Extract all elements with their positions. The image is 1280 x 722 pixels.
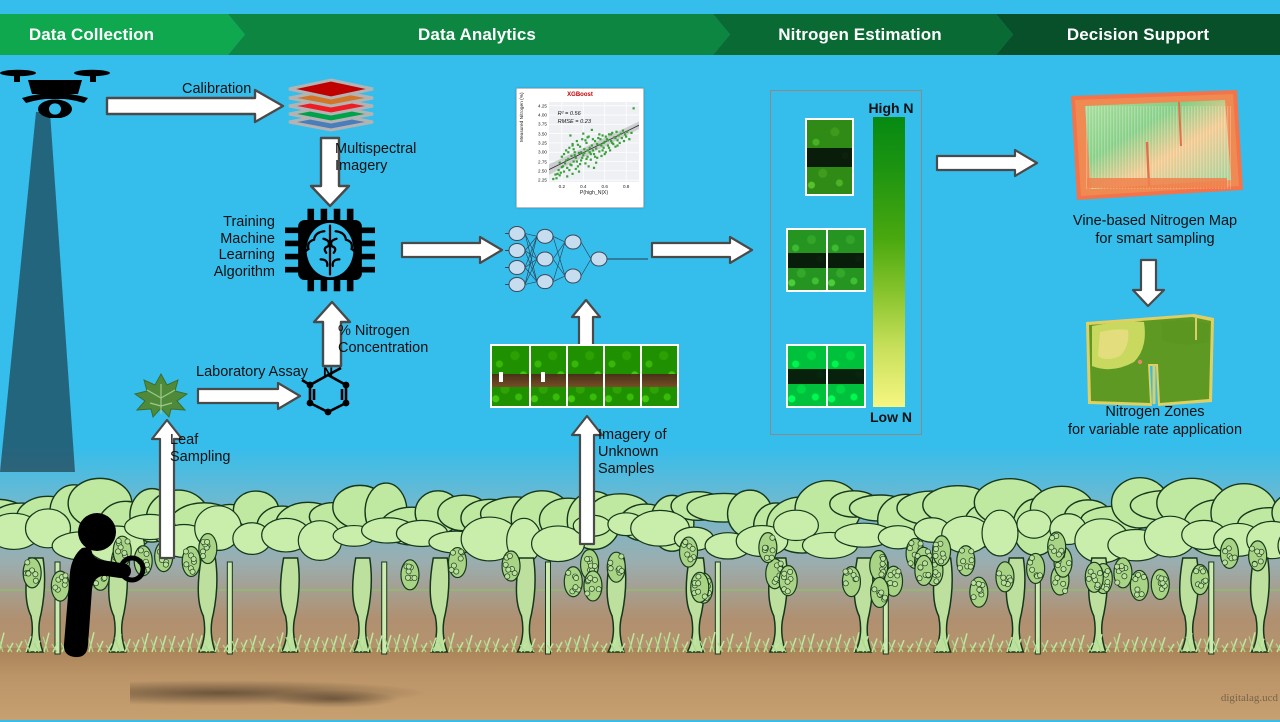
chart-ytick: 3.50 — [538, 131, 547, 136]
drone-icon — [0, 64, 110, 118]
network-to-nitrogen-arrow — [650, 235, 754, 265]
laboratory-assay-label: Laboratory Assay — [196, 364, 308, 381]
network-node — [509, 244, 525, 258]
chart-plot-area: 2.252.502.753.003.253.503.754.004.250.20… — [549, 102, 639, 182]
image-tile — [826, 346, 864, 406]
stage-label: Data Analytics — [228, 25, 730, 45]
zones-caption: Nitrogen Zones for variable rate applica… — [1030, 403, 1280, 439]
laboratory-assay-arrow — [196, 381, 302, 411]
stage-nitrogen-estimation[interactable]: Nitrogen Estimation — [713, 14, 1013, 55]
stage-decision-support[interactable]: Decision Support — [996, 14, 1280, 55]
chart-ytick: 2.75 — [538, 159, 547, 164]
chart-ytick: 3.00 — [538, 150, 547, 155]
vine-sample-group-mid — [786, 228, 866, 292]
watermark: digitalag.ucd — [1221, 692, 1278, 704]
image-tile — [640, 346, 677, 406]
chip-to-network-arrow — [400, 235, 504, 265]
chart-ytick: 3.25 — [538, 140, 547, 145]
calibration-label: Calibration — [182, 81, 251, 98]
svg-text:N: N — [323, 365, 333, 380]
network-node — [537, 252, 553, 266]
network-node — [509, 278, 525, 292]
grape-leaf-icon — [133, 372, 189, 418]
stage-data-analytics[interactable]: Data Analytics — [228, 14, 730, 55]
vine-nitrogen-map — [1065, 86, 1245, 208]
image-tile — [492, 346, 529, 406]
chart-ytick: 4.00 — [538, 113, 547, 118]
chart-xtick: 0.2 — [559, 184, 565, 189]
multispectral-stack-icon — [282, 76, 380, 134]
stage-header: Data Collection Data Analytics Nitrogen … — [0, 14, 1280, 55]
chart-xlabel: P(high_N|X) — [549, 190, 639, 196]
ground-shadow-2 — [270, 690, 400, 708]
chart-ytick: 4.25 — [538, 103, 547, 108]
network-node — [591, 252, 607, 266]
field-worker-silhouette — [52, 510, 162, 670]
image-tile — [529, 346, 566, 406]
chart-annotation: R² = 0.56 — [558, 111, 581, 117]
neural-network-icon — [505, 215, 650, 300]
leaf-sampling-label: Leaf Sampling — [170, 432, 230, 466]
stage-label: Decision Support — [996, 25, 1280, 45]
image-tile — [788, 230, 826, 290]
vine-sample-group-high — [805, 118, 854, 196]
chart-ytick: 3.75 — [538, 122, 547, 127]
multispectral-imagery-label: Multispectral Imagery — [335, 141, 416, 175]
nitrogen-colorbar — [873, 117, 905, 407]
stage-data-collection[interactable]: Data Collection — [0, 14, 245, 55]
colorbar-high-label: High N — [860, 100, 922, 116]
imagery-unknown-label: Imagery of Unknown Samples — [598, 427, 667, 478]
vine-map-caption: Vine-based Nitrogen Map for smart sampli… — [1040, 212, 1270, 248]
nitrogen-concentration-label: % Nitrogen Concentration — [338, 323, 428, 357]
stage-label: Data Collection — [0, 25, 245, 45]
colorbar-low-label: Low N — [860, 409, 922, 425]
vine-sample-group-low — [786, 344, 866, 408]
network-node — [509, 261, 525, 275]
nitrogen-to-map-arrow — [935, 148, 1039, 178]
network-node — [565, 269, 581, 283]
map-to-zones-arrow — [1130, 258, 1166, 308]
chart-title: XGBoost — [517, 92, 643, 98]
xgboost-scatter-plot: XGBoost Measured Nitrogen (%) 2.252.502.… — [516, 88, 644, 208]
image-tile — [788, 346, 826, 406]
unknown-samples-image-strip — [490, 344, 679, 408]
chart-annotation: RMSE = 0.23 — [558, 119, 591, 125]
chart-xtick: 0.4 — [580, 184, 586, 189]
network-node — [537, 275, 553, 289]
network-node — [565, 235, 581, 249]
network-node — [509, 227, 525, 241]
training-algorithm-label: Training Machine Learning Algorithm — [190, 214, 275, 280]
chart-xtick: 0.6 — [602, 184, 608, 189]
nitrogen-molecule-icon: N — [300, 365, 356, 417]
chart-xtick: 0.8 — [623, 184, 629, 189]
chart-ytick: 2.50 — [538, 168, 547, 173]
ai-chip-brain-icon — [282, 205, 378, 295]
image-tile — [826, 230, 864, 290]
image-tile — [807, 120, 852, 194]
workflow-diagram: Data Collection Data Analytics Nitrogen … — [0, 0, 1280, 720]
nitrogen-zones-map — [1082, 310, 1218, 410]
chart-ylabel: Measured Nitrogen (%) — [520, 92, 525, 142]
imagery-to-network-arrow — [570, 298, 602, 348]
network-node — [537, 229, 553, 243]
image-tile — [566, 346, 603, 406]
stage-label: Nitrogen Estimation — [713, 25, 1013, 45]
image-tile — [603, 346, 640, 406]
chart-ytick: 2.25 — [538, 178, 547, 183]
